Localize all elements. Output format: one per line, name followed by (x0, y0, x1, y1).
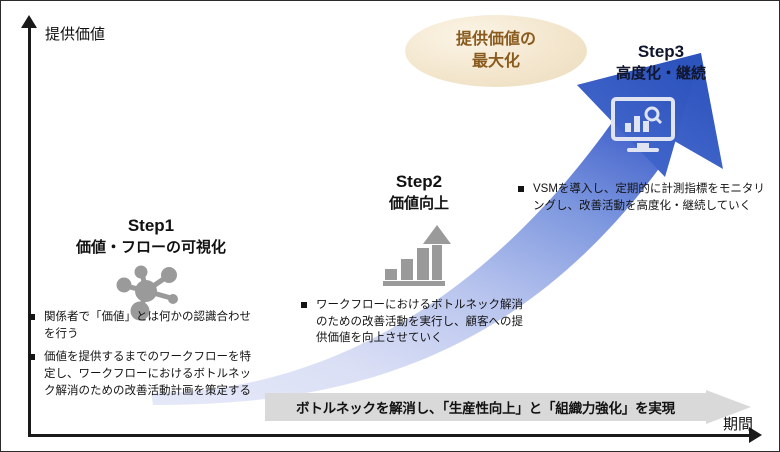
list-item: 関係者で「価値」とは何かの認識合わせを行う (29, 309, 261, 342)
list-item: 価値を提供するまでのワークフローを特定し、ワークフローにおけるボトルネック解消の… (29, 349, 261, 399)
diagram-canvas: 提供価値 期間 提供価値の 最大化 Step1 価値・フローの可視化 (0, 0, 780, 452)
step3-subtitle: 高度化・継続 (591, 64, 731, 84)
monitor-analytics-icon (611, 97, 675, 153)
step3-bullet-1: VSMを導入し、定期的に計測指標をモニタリングし、改善活動を高度化・継続していく (533, 181, 768, 214)
bullet-square-icon (518, 186, 524, 192)
step1-number: Step1 (61, 215, 241, 238)
step2-bullet-list: ワークフローにおけるボトルネック解消のための改善活動を実行し、顧客への提供価値を… (301, 297, 533, 354)
x-axis-line (28, 434, 753, 437)
step1-bullet-1: 関係者で「価値」とは何かの認識合わせを行う (44, 309, 261, 342)
y-axis-arrowhead (21, 15, 37, 28)
callout-line-1: 提供価値の (456, 29, 536, 51)
callout-oval: 提供価値の 最大化 (405, 15, 587, 87)
bullet-square-icon (29, 314, 35, 320)
step3-bullet-list: VSMを導入し、定期的に計測指標をモニタリングし、改善活動を高度化・継続していく (518, 181, 768, 221)
callout-line-2: 最大化 (472, 51, 520, 73)
bottom-banner-label: ボトルネックを解消し、「生産性向上」と「組織力強化」を実現 (265, 390, 706, 424)
step1-subtitle: 価値・フローの可視化 (61, 238, 241, 258)
step1-bullet-list: 関係者で「価値」とは何かの認識合わせを行う 価値を提供するまでのワークフローを特… (29, 309, 261, 406)
step1-heading: Step1 価値・フローの可視化 (61, 215, 241, 258)
bullet-square-icon (29, 354, 35, 360)
step2-bullet-1: ワークフローにおけるボトルネック解消のための改善活動を実行し、顧客への提供価値を… (316, 297, 533, 347)
step3-number: Step3 (591, 41, 731, 64)
list-item: ワークフローにおけるボトルネック解消のための改善活動を実行し、顧客への提供価値を… (301, 297, 533, 347)
step2-number: Step2 (349, 171, 489, 194)
step2-subtitle: 価値向上 (349, 194, 489, 214)
y-axis-label: 提供価値 (45, 23, 105, 44)
bar-chart-up-arrow-icon (383, 225, 453, 287)
list-item: VSMを導入し、定期的に計測指標をモニタリングし、改善活動を高度化・継続していく (518, 181, 768, 214)
step2-heading: Step2 価値向上 (349, 171, 489, 214)
step1-bullet-2: 価値を提供するまでのワークフローを特定し、ワークフローにおけるボトルネック解消の… (44, 349, 261, 399)
x-axis-label: 期間 (723, 413, 753, 434)
step3-heading: Step3 高度化・継続 (591, 41, 731, 84)
bullet-square-icon (301, 302, 307, 308)
